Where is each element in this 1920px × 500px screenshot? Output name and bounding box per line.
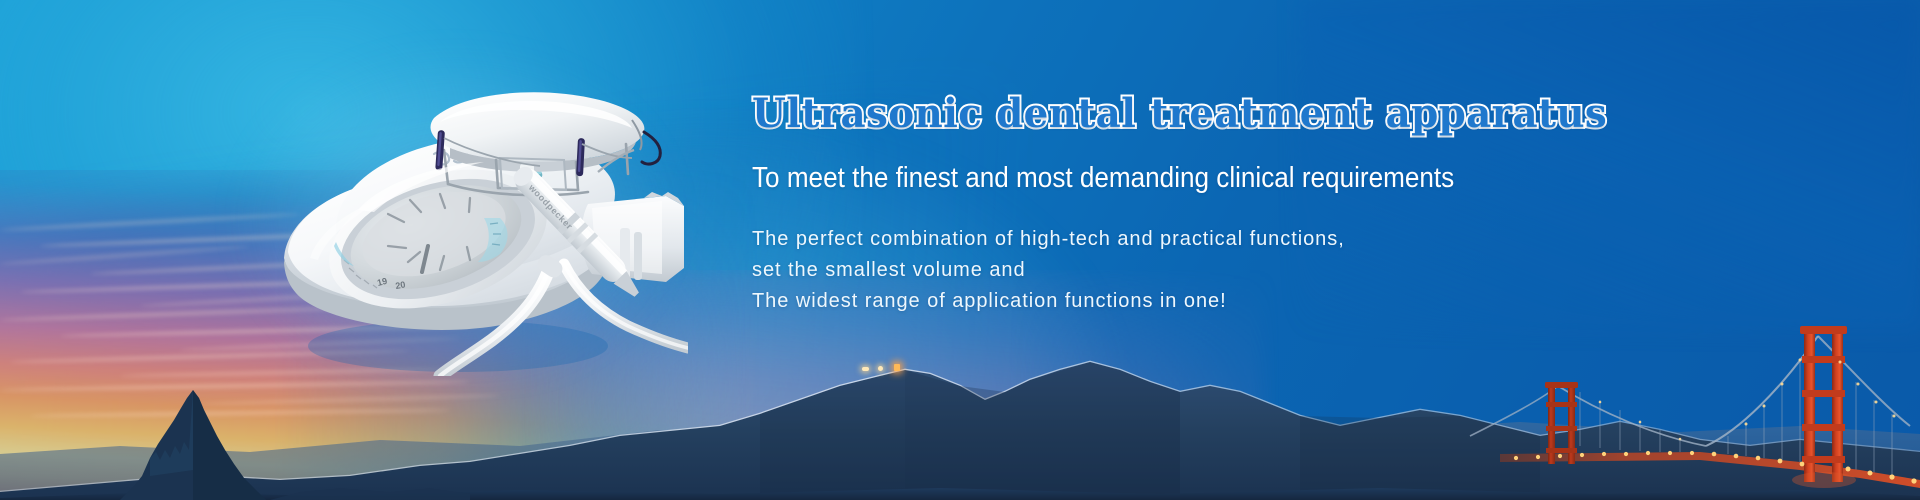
dial-label-20: 20 <box>395 279 407 291</box>
ultrasonic-dental-scaler-image: 19 20 <box>248 46 688 376</box>
body-copy-list: The perfect combination of high-tech and… <box>752 224 1572 317</box>
body-copy-line: set the smallest volume and <box>752 255 1572 286</box>
ridge-light <box>878 366 883 371</box>
body-copy-line: The widest range of application function… <box>752 286 1572 317</box>
body-copy-line: The perfect combination of high-tech and… <box>752 224 1572 255</box>
banner-copy: Ultrasonic dental treatment apparatus To… <box>752 92 1572 317</box>
hero-banner: 19 20 <box>0 0 1920 500</box>
ridge-light <box>894 364 900 371</box>
ridge-light <box>862 367 869 371</box>
subtitle: To meet the finest and most demanding cl… <box>752 161 1490 196</box>
page-title: Ultrasonic dental treatment apparatus <box>752 92 1547 135</box>
